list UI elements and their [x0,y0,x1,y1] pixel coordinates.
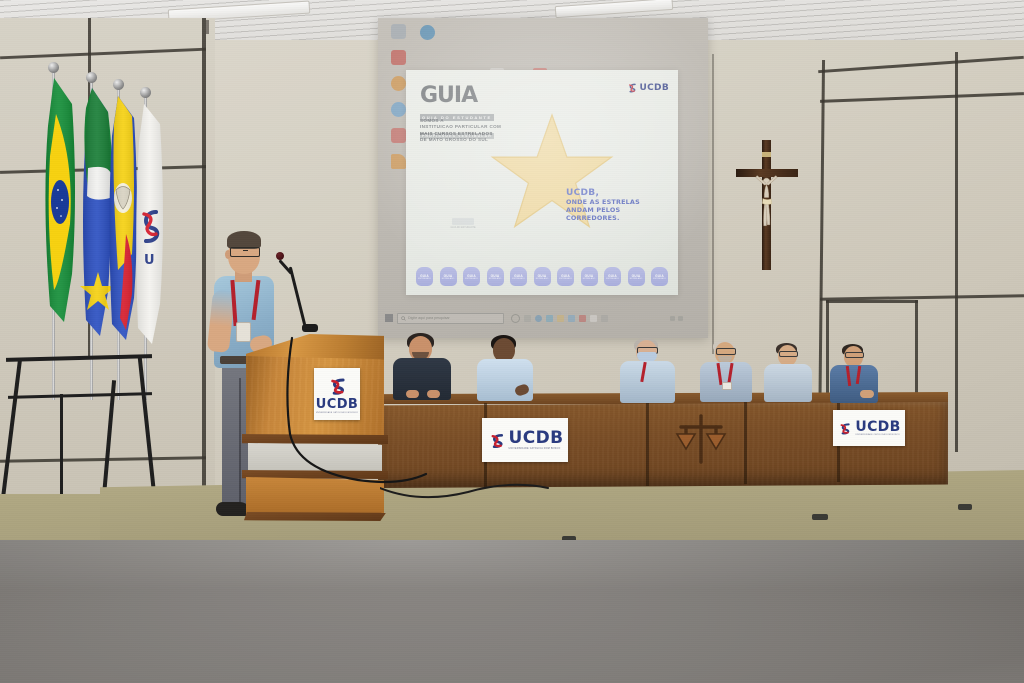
glasses-icon [230,247,260,257]
glasses-icon [779,351,798,357]
floor-outlet [958,504,972,510]
glasses-icon [716,348,736,355]
flag-pole-finial [86,72,97,83]
mic-capsule [276,252,284,260]
flag-ucdb: U [130,102,172,346]
inri-plaque [762,152,771,157]
panelist-5 [762,341,814,399]
floor-shading [0,540,1024,683]
panelist-3 [618,336,678,398]
wall-mullion [955,52,958,452]
crucifix-icon [736,140,798,270]
table-sign-acronym: UCDB [855,420,900,434]
podium-foot [244,512,386,521]
christ-figure [754,173,779,239]
table-panel-seam [744,401,747,484]
flag-group: U [22,58,182,398]
id-badge [722,382,732,390]
hand [860,390,874,398]
torso [620,361,675,403]
table-panel-seam [646,402,649,486]
ucdb-swirl-logo-icon [837,421,852,436]
wall-mullion [712,54,714,354]
projection-screen: GUIA GUIA DO ESTUDANTE PROFISSOES VESTIB… [378,18,708,338]
glasses-icon [845,352,864,358]
table-sign-subtitle: UNIVERSIDADE CATOLICA DOM BOSCO [509,447,564,450]
auditorium-photo: GUIA GUIA DO ESTUDANTE PROFISSOES VESTIB… [0,0,1024,683]
easel-rail [8,392,152,399]
easel-rail [6,354,152,362]
table-sign-acronym: UCDB [509,430,564,447]
flag-pole-finial [48,62,59,73]
table-sign-left: UCDB UNIVERSIDADE CATOLICA DOM BOSCO [482,418,568,462]
scales-of-justice-icon [674,410,728,468]
ucdb-swirl-logo-icon [487,431,506,450]
table-sign-subtitle: UNIVERSIDADE CATOLICA DOM BOSCO [855,434,900,436]
panelist-4 [698,338,754,398]
torso [764,364,812,402]
glasses-bridge [243,250,248,251]
torso [477,359,533,401]
screen-light-bloom [378,18,708,338]
leg-seam [239,378,241,504]
panelist-2 [474,333,538,397]
floor-outlet [812,514,828,520]
floor-cable [380,470,580,510]
panelist-6 [828,342,880,398]
wall-mullion [206,20,209,34]
wall-mullion [826,300,918,303]
table-sign-right: UCDB UNIVERSIDADE CATOLICA DOM BOSCO [833,410,905,446]
shoe [216,502,250,516]
